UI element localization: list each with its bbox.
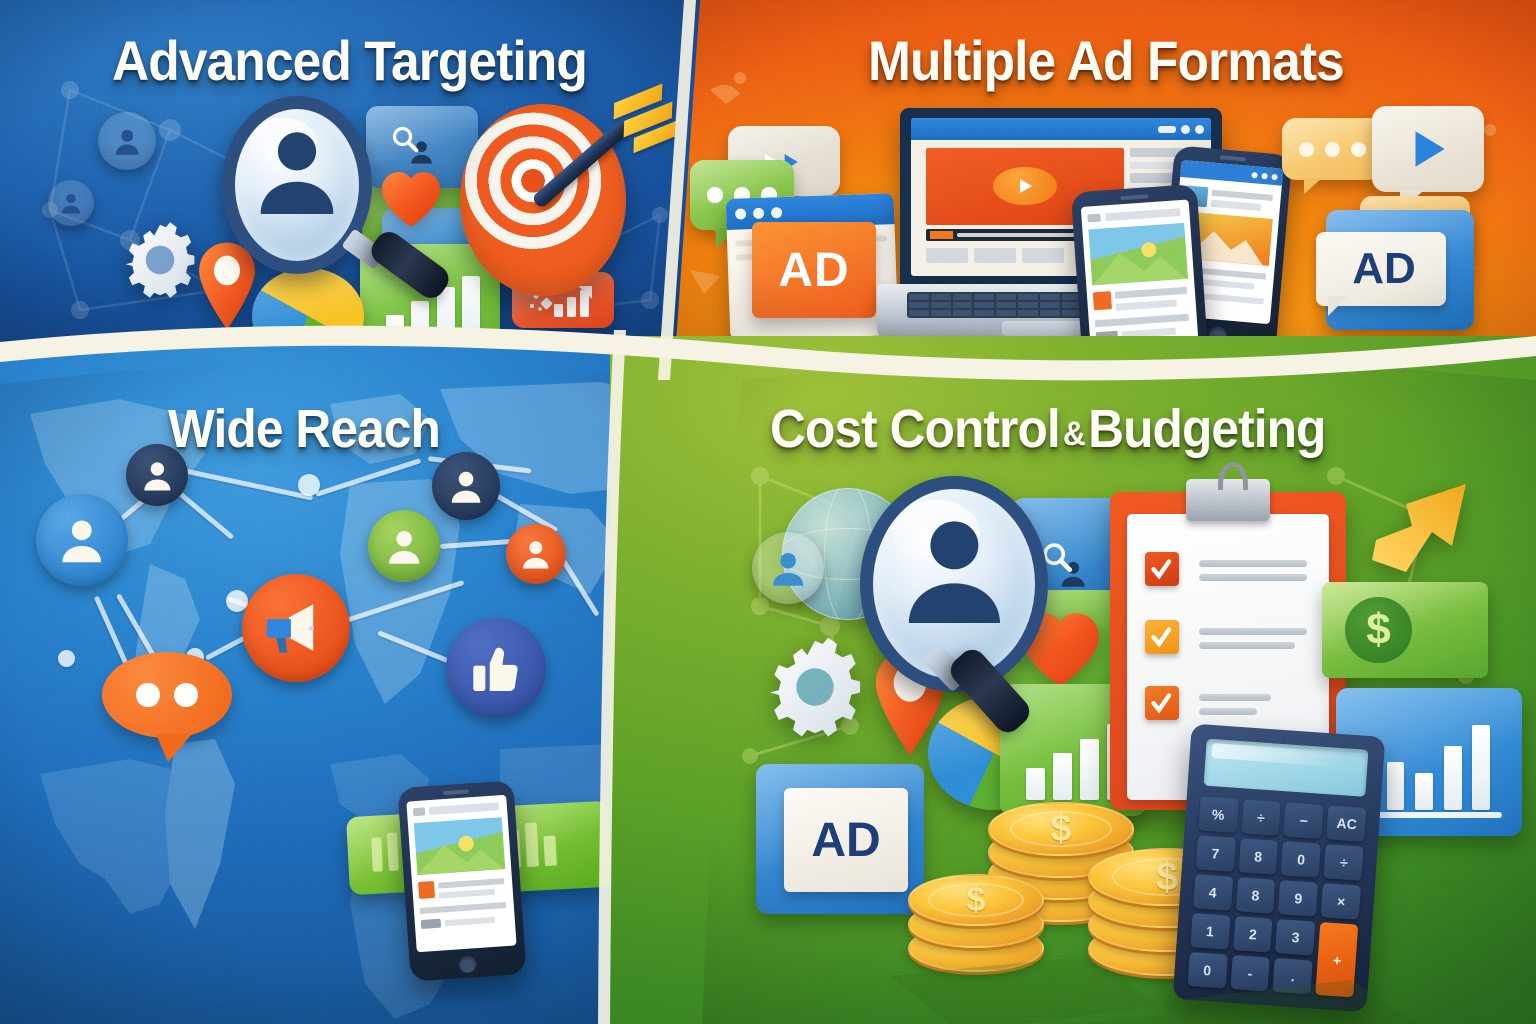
- page-title: Multiple Ad Formats: [868, 28, 1344, 93]
- gear-icon: [760, 632, 870, 742]
- calc-key[interactable]: 4: [1193, 874, 1233, 911]
- checkbox-item[interactable]: [1145, 620, 1179, 654]
- title-part-after: Budgeting: [1088, 399, 1325, 459]
- chat-bubble-icon: [1282, 118, 1382, 180]
- dollar-bill-icon: $: [1322, 582, 1488, 678]
- avatar: [752, 532, 824, 604]
- page-title: Advanced Targeting: [112, 28, 587, 93]
- thumbs-up-icon: [446, 618, 546, 718]
- dollar-symbol: $: [910, 876, 1042, 924]
- avatar: [98, 112, 156, 170]
- checkbox-item[interactable]: [1145, 552, 1179, 586]
- avatar: [368, 510, 440, 582]
- calc-key[interactable]: AC: [1327, 805, 1367, 842]
- page-title: Wide Reach: [168, 398, 440, 460]
- search-icon: [390, 124, 420, 154]
- smartphone-icon: [397, 780, 526, 982]
- ground-shadow: [830, 936, 1530, 1024]
- calc-key[interactable]: 8: [1235, 877, 1275, 914]
- phone-screen: [406, 794, 516, 952]
- image-post-icon: [414, 817, 505, 874]
- calculator-display: [1203, 738, 1369, 796]
- calc-key[interactable]: 0: [1281, 841, 1321, 878]
- up-arrow-icon: [1366, 474, 1476, 578]
- gear-icon: [118, 218, 202, 302]
- ad-badge-label: AD: [811, 813, 880, 868]
- video-bubble-icon: [1372, 106, 1484, 192]
- image-post-icon: [1089, 223, 1188, 286]
- folder-ad-icon: AD: [1326, 210, 1474, 330]
- ad-badge-label: AD: [1352, 244, 1416, 294]
- magnifier-handle: [918, 638, 1068, 778]
- checkbox-item[interactable]: [1145, 686, 1179, 720]
- title-ampersand: &: [1060, 415, 1088, 453]
- title-part-before: Cost Control: [770, 399, 1060, 459]
- clipboard-clamp: [1186, 479, 1271, 520]
- calc-key[interactable]: ×: [1321, 883, 1361, 920]
- avatar: [432, 452, 500, 520]
- video-play-icon[interactable]: [993, 167, 1056, 206]
- calc-key[interactable]: 8: [1238, 838, 1278, 875]
- calc-key[interactable]: 7: [1195, 835, 1235, 872]
- avatar: [506, 524, 566, 584]
- calc-key[interactable]: −: [1284, 802, 1324, 839]
- infographic-canvas: AD: [0, 0, 1536, 1024]
- calc-key[interactable]: ÷: [1324, 844, 1364, 881]
- dollar-symbol: $: [1345, 597, 1411, 662]
- avatar: [36, 494, 128, 586]
- chat-bubble-icon: [102, 652, 232, 738]
- avatar: [48, 180, 94, 226]
- ad-badge-icon: AD: [752, 222, 876, 318]
- megaphone-icon: [242, 574, 350, 682]
- calc-key[interactable]: ÷: [1241, 799, 1281, 836]
- ad-badge-icon: AD: [756, 764, 924, 914]
- calc-key[interactable]: %: [1198, 796, 1238, 833]
- ad-badge-label: AD: [778, 243, 849, 298]
- heart-icon: [378, 168, 444, 230]
- play-icon: [1402, 124, 1454, 174]
- magnifier-handle: [340, 222, 460, 332]
- page-title: Cost Control&Budgeting: [770, 398, 1325, 460]
- calc-key[interactable]: 9: [1278, 880, 1318, 917]
